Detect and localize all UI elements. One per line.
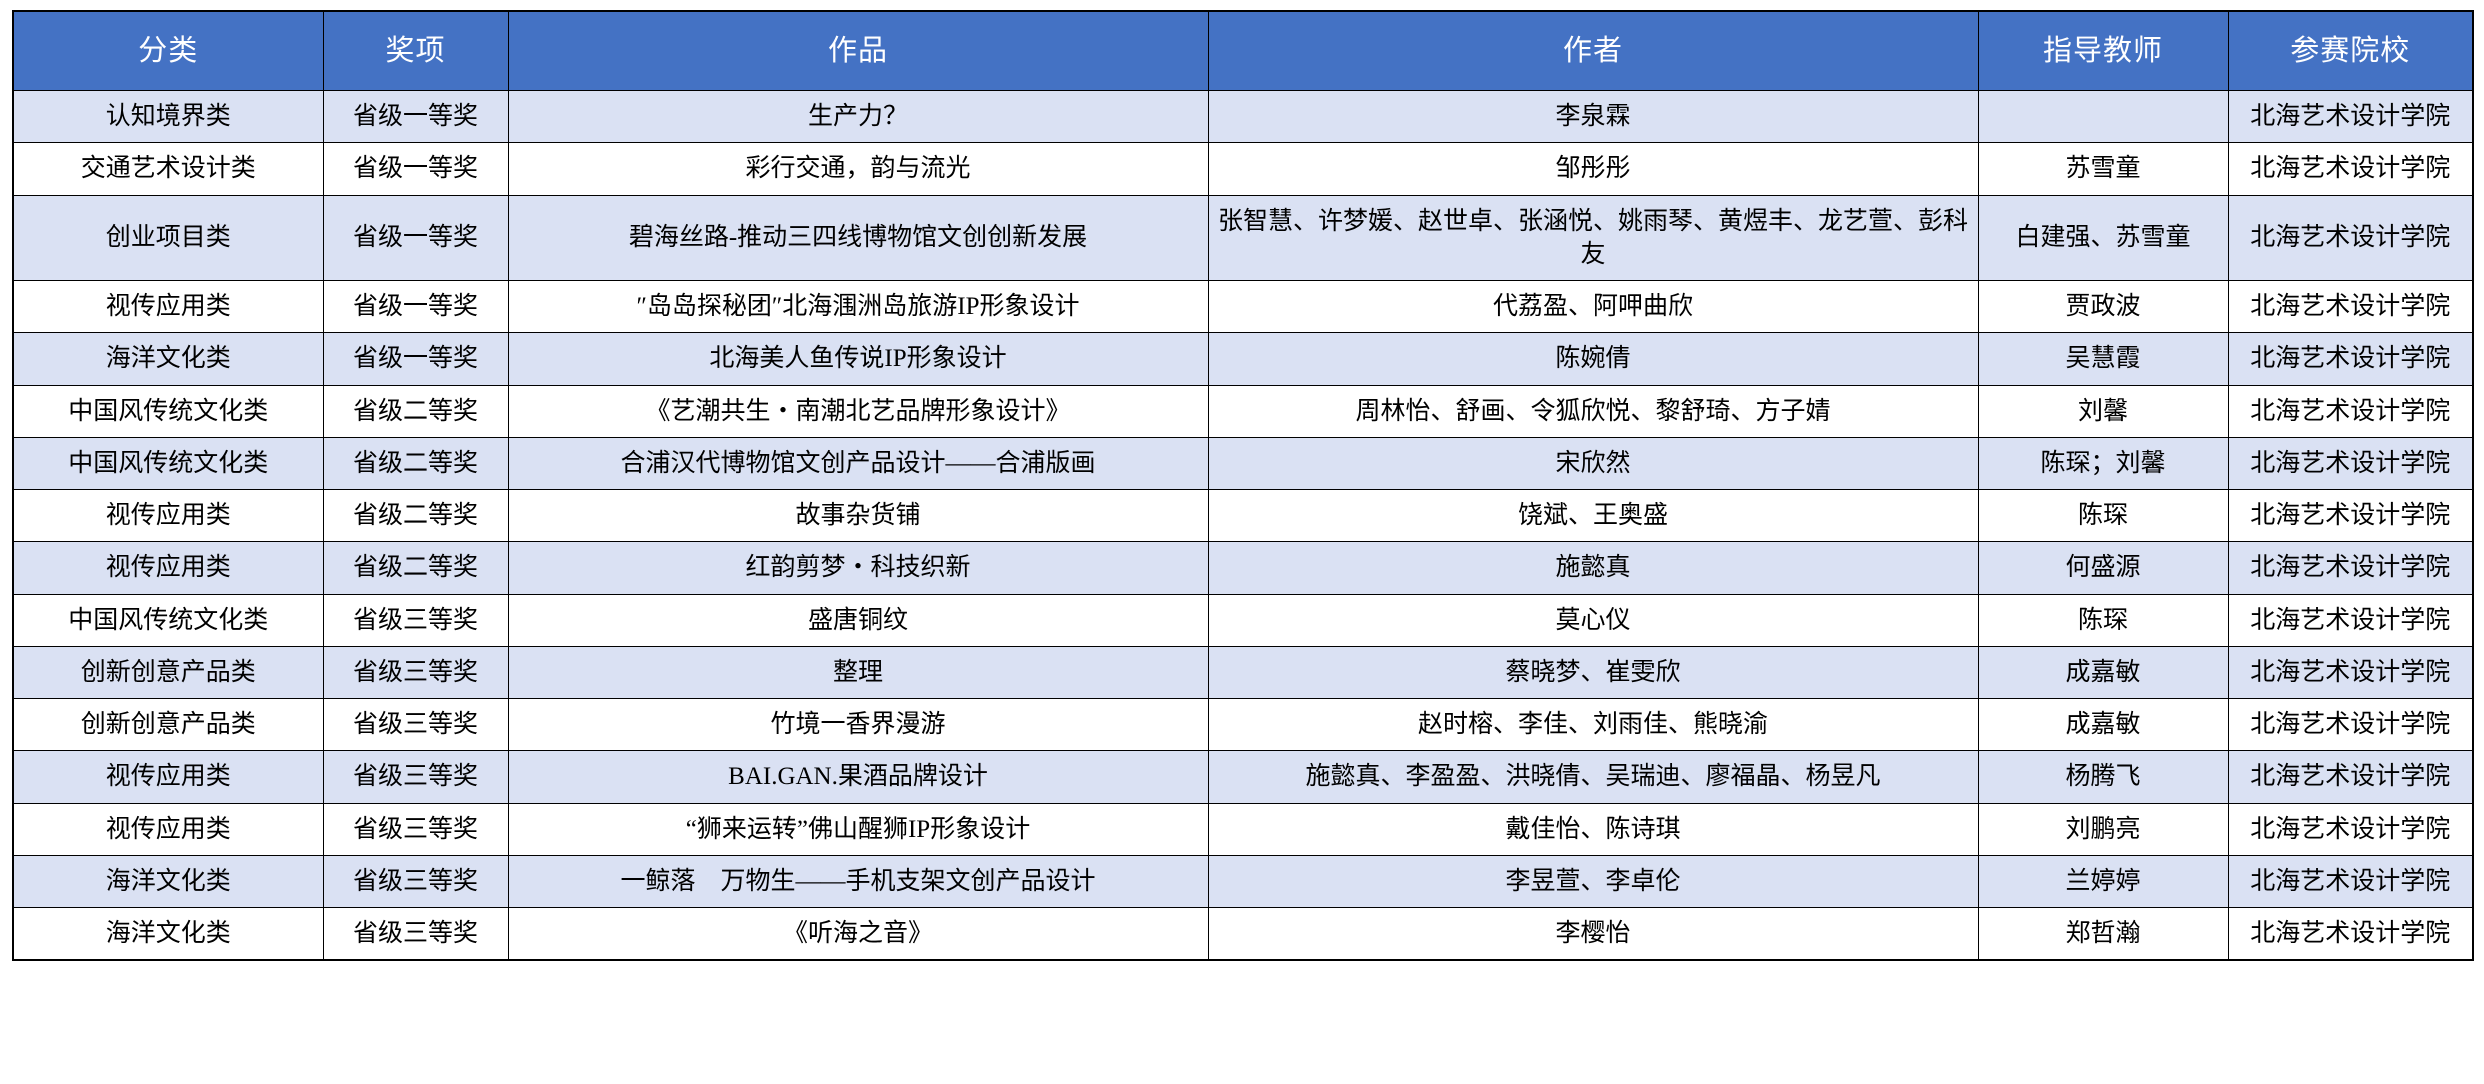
column-header-teacher: 指导教师 (1978, 11, 2228, 91)
cell-author: 施懿真 (1208, 542, 1978, 594)
cell-author-text: 张智慧、许梦媛、赵世卓、张涵悦、姚雨琴、黄煜丰、龙艺萱、彭科友 (1217, 205, 1970, 272)
cell-teacher-text: 陈琛 (1987, 499, 2220, 532)
cell-work: “狮来运转”佛山醒狮IP形象设计 (508, 803, 1208, 855)
cell-category-text: 视传应用类 (22, 760, 315, 793)
cell-category: 中国风传统文化类 (13, 594, 323, 646)
table-row: 海洋文化类省级三等奖一鲸落 万物生——手机支架文创产品设计李昱萱、李卓伦兰婷婷北… (13, 855, 2473, 907)
cell-award-text: 省级二等奖 (332, 395, 500, 428)
cell-school: 北海艺术设计学院 (2228, 699, 2473, 751)
cell-award: 省级二等奖 (323, 490, 508, 542)
cell-work-text: 《艺潮共生・南潮北艺品牌形象设计》 (517, 395, 1200, 428)
cell-teacher-text: 刘鹏亮 (1987, 813, 2220, 846)
table-row: 认知境界类省级一等奖生产力？李泉霖北海艺术设计学院 (13, 91, 2473, 143)
cell-school-text: 北海艺术设计学院 (2237, 656, 2465, 689)
cell-author-text: 周林怡、舒画、令狐欣悦、黎舒琦、方子婧 (1217, 395, 1970, 428)
cell-author-text: 蔡晓梦、崔雯欣 (1217, 656, 1970, 689)
cell-work-text: 合浦汉代博物馆文创产品设计——合浦版画 (517, 447, 1200, 480)
cell-author: 戴佳怡、陈诗琪 (1208, 803, 1978, 855)
cell-work-text: 红韵剪梦・科技织新 (517, 551, 1200, 584)
cell-award: 省级三等奖 (323, 646, 508, 698)
cell-author: 赵时榕、李佳、刘雨佳、熊晓渝 (1208, 699, 1978, 751)
cell-award-text: 省级一等奖 (332, 342, 500, 375)
table-row: 创新创意产品类省级三等奖竹境一香界漫游赵时榕、李佳、刘雨佳、熊晓渝成嘉敏北海艺术… (13, 699, 2473, 751)
table-body: 认知境界类省级一等奖生产力？李泉霖北海艺术设计学院交通艺术设计类省级一等奖彩行交… (13, 91, 2473, 961)
cell-school-text: 北海艺术设计学院 (2237, 447, 2465, 480)
cell-teacher: 吴慧霞 (1978, 333, 2228, 385)
cell-author: 饶斌、王奥盛 (1208, 490, 1978, 542)
table-row: 中国风传统文化类省级二等奖合浦汉代博物馆文创产品设计——合浦版画宋欣然陈琛；刘馨… (13, 437, 2473, 489)
cell-author: 陈婉倩 (1208, 333, 1978, 385)
cell-work: 红韵剪梦・科技织新 (508, 542, 1208, 594)
cell-school-text: 北海艺术设计学院 (2237, 760, 2465, 793)
cell-teacher-text: 陈琛；刘馨 (1987, 447, 2220, 480)
cell-school: 北海艺术设计学院 (2228, 333, 2473, 385)
cell-school: 北海艺术设计学院 (2228, 91, 2473, 143)
cell-work: 故事杂货铺 (508, 490, 1208, 542)
table-header: 分类 奖项 作品 作者 指导教师 参赛院校 (13, 11, 2473, 91)
cell-award-text: 省级三等奖 (332, 760, 500, 793)
cell-category-text: 中国风传统文化类 (22, 395, 315, 428)
cell-category: 中国风传统文化类 (13, 437, 323, 489)
cell-teacher: 刘鹏亮 (1978, 803, 2228, 855)
cell-teacher: 陈琛；刘馨 (1978, 437, 2228, 489)
cell-award: 省级三等奖 (323, 855, 508, 907)
cell-award-text: 省级一等奖 (332, 152, 500, 185)
cell-award: 省级三等奖 (323, 908, 508, 961)
cell-work: 竹境一香界漫游 (508, 699, 1208, 751)
cell-award-text: 省级二等奖 (332, 447, 500, 480)
cell-award-text: 省级三等奖 (332, 604, 500, 637)
cell-school: 北海艺术设计学院 (2228, 646, 2473, 698)
cell-author-text: 陈婉倩 (1217, 342, 1970, 375)
cell-teacher: 刘馨 (1978, 385, 2228, 437)
cell-work-text: “狮来运转”佛山醒狮IP形象设计 (517, 813, 1200, 846)
cell-category-text: 视传应用类 (22, 290, 315, 323)
cell-teacher: 贾政波 (1978, 281, 2228, 333)
cell-teacher-text: 成嘉敏 (1987, 656, 2220, 689)
cell-category-text: 视传应用类 (22, 551, 315, 584)
cell-award-text: 省级一等奖 (332, 221, 500, 254)
cell-category-text: 创新创意产品类 (22, 656, 315, 689)
cell-author: 代荔盈、阿呷曲欣 (1208, 281, 1978, 333)
cell-school: 北海艺术设计学院 (2228, 143, 2473, 195)
cell-award: 省级三等奖 (323, 751, 508, 803)
cell-teacher-text: 陈琛 (1987, 604, 2220, 637)
table-row: 视传应用类省级一等奖″岛岛探秘团″北海涠洲岛旅游IP形象设计代荔盈、阿呷曲欣贾政… (13, 281, 2473, 333)
cell-work: ″岛岛探秘团″北海涠洲岛旅游IP形象设计 (508, 281, 1208, 333)
table-row: 交通艺术设计类省级一等奖彩行交通，韵与流光邹彤彤苏雪童北海艺术设计学院 (13, 143, 2473, 195)
cell-author: 施懿真、李盈盈、洪晓倩、吴瑞迪、廖福晶、杨昱凡 (1208, 751, 1978, 803)
cell-teacher: 郑哲瀚 (1978, 908, 2228, 961)
cell-award-text: 省级二等奖 (332, 499, 500, 532)
cell-school: 北海艺术设计学院 (2228, 385, 2473, 437)
cell-category: 海洋文化类 (13, 333, 323, 385)
cell-author: 张智慧、许梦媛、赵世卓、张涵悦、姚雨琴、黄煜丰、龙艺萱、彭科友 (1208, 195, 1978, 281)
cell-school: 北海艺术设计学院 (2228, 542, 2473, 594)
cell-school-text: 北海艺术设计学院 (2237, 290, 2465, 323)
cell-author-text: 戴佳怡、陈诗琪 (1217, 813, 1970, 846)
cell-award-text: 省级三等奖 (332, 865, 500, 898)
cell-author: 邹彤彤 (1208, 143, 1978, 195)
cell-teacher: 兰婷婷 (1978, 855, 2228, 907)
cell-work: 北海美人鱼传说IP形象设计 (508, 333, 1208, 385)
cell-school: 北海艺术设计学院 (2228, 908, 2473, 961)
cell-award: 省级二等奖 (323, 385, 508, 437)
cell-work-text: 生产力？ (517, 100, 1200, 133)
cell-school: 北海艺术设计学院 (2228, 751, 2473, 803)
cell-school-text: 北海艺术设计学院 (2237, 813, 2465, 846)
cell-award: 省级二等奖 (323, 437, 508, 489)
cell-school-text: 北海艺术设计学院 (2237, 395, 2465, 428)
cell-author-text: 宋欣然 (1217, 447, 1970, 480)
cell-teacher-text: 兰婷婷 (1987, 865, 2220, 898)
cell-work: 《听海之音》 (508, 908, 1208, 961)
cell-award: 省级一等奖 (323, 143, 508, 195)
cell-work: 彩行交通，韵与流光 (508, 143, 1208, 195)
cell-school: 北海艺术设计学院 (2228, 490, 2473, 542)
cell-author-text: 莫心仪 (1217, 604, 1970, 637)
table-row: 创新创意产品类省级三等奖整理蔡晓梦、崔雯欣成嘉敏北海艺术设计学院 (13, 646, 2473, 698)
table-row: 视传应用类省级二等奖红韵剪梦・科技织新施懿真何盛源北海艺术设计学院 (13, 542, 2473, 594)
cell-teacher-text: 郑哲瀚 (1987, 917, 2220, 950)
cell-work: 合浦汉代博物馆文创产品设计——合浦版画 (508, 437, 1208, 489)
cell-author: 李泉霖 (1208, 91, 1978, 143)
cell-author: 宋欣然 (1208, 437, 1978, 489)
cell-award: 省级一等奖 (323, 333, 508, 385)
cell-school-text: 北海艺术设计学院 (2237, 865, 2465, 898)
column-header-award: 奖项 (323, 11, 508, 91)
cell-category: 视传应用类 (13, 490, 323, 542)
cell-work-text: 《听海之音》 (517, 917, 1200, 950)
cell-author-text: 饶斌、王奥盛 (1217, 499, 1970, 532)
cell-teacher: 成嘉敏 (1978, 646, 2228, 698)
cell-award-text: 省级三等奖 (332, 708, 500, 741)
cell-teacher-text: 刘馨 (1987, 395, 2220, 428)
cell-award: 省级三等奖 (323, 803, 508, 855)
table-header-row: 分类 奖项 作品 作者 指导教师 参赛院校 (13, 11, 2473, 91)
cell-author-text: 赵时榕、李佳、刘雨佳、熊晓渝 (1217, 708, 1970, 741)
cell-author-text: 施懿真 (1217, 551, 1970, 584)
table-row: 创业项目类省级一等奖碧海丝路-推动三四线博物馆文创创新发展张智慧、许梦媛、赵世卓… (13, 195, 2473, 281)
cell-category-text: 视传应用类 (22, 813, 315, 846)
cell-teacher: 白建强、苏雪童 (1978, 195, 2228, 281)
cell-category-text: 视传应用类 (22, 499, 315, 532)
cell-work-text: 竹境一香界漫游 (517, 708, 1200, 741)
table-row: 视传应用类省级三等奖BAI.GAN.果酒品牌设计施懿真、李盈盈、洪晓倩、吴瑞迪、… (13, 751, 2473, 803)
cell-teacher-text: 杨腾飞 (1987, 760, 2220, 793)
cell-teacher: 陈琛 (1978, 594, 2228, 646)
cell-category: 创新创意产品类 (13, 699, 323, 751)
cell-school-text: 北海艺术设计学院 (2237, 221, 2465, 254)
cell-category-text: 创新创意产品类 (22, 708, 315, 741)
cell-category: 创新创意产品类 (13, 646, 323, 698)
cell-author: 周林怡、舒画、令狐欣悦、黎舒琦、方子婧 (1208, 385, 1978, 437)
cell-author-text: 李樱怡 (1217, 917, 1970, 950)
cell-school: 北海艺术设计学院 (2228, 594, 2473, 646)
cell-category: 海洋文化类 (13, 908, 323, 961)
cell-teacher-text: 苏雪童 (1987, 152, 2220, 185)
cell-category: 视传应用类 (13, 281, 323, 333)
table-row: 中国风传统文化类省级二等奖《艺潮共生・南潮北艺品牌形象设计》周林怡、舒画、令狐欣… (13, 385, 2473, 437)
cell-teacher-text: 何盛源 (1987, 551, 2220, 584)
cell-category: 认知境界类 (13, 91, 323, 143)
award-results-table: 分类 奖项 作品 作者 指导教师 参赛院校 认知境界类省级一等奖生产力？李泉霖北… (12, 10, 2474, 961)
cell-author: 李昱萱、李卓伦 (1208, 855, 1978, 907)
cell-work-text: BAI.GAN.果酒品牌设计 (517, 760, 1200, 793)
cell-school-text: 北海艺术设计学院 (2237, 342, 2465, 375)
award-table-container: 分类 奖项 作品 作者 指导教师 参赛院校 认知境界类省级一等奖生产力？李泉霖北… (0, 0, 2484, 961)
cell-award: 省级三等奖 (323, 594, 508, 646)
table-row: 中国风传统文化类省级三等奖盛唐铜纹莫心仪陈琛北海艺术设计学院 (13, 594, 2473, 646)
column-header-author: 作者 (1208, 11, 1978, 91)
cell-teacher-text: 白建强、苏雪童 (1987, 221, 2220, 254)
table-row: 视传应用类省级三等奖“狮来运转”佛山醒狮IP形象设计戴佳怡、陈诗琪刘鹏亮北海艺术… (13, 803, 2473, 855)
cell-work: 生产力？ (508, 91, 1208, 143)
cell-work: 整理 (508, 646, 1208, 698)
cell-author-text: 李泉霖 (1217, 100, 1970, 133)
cell-author: 莫心仪 (1208, 594, 1978, 646)
cell-category-text: 中国风传统文化类 (22, 604, 315, 637)
cell-category-text: 交通艺术设计类 (22, 152, 315, 185)
table-row: 海洋文化类省级三等奖《听海之音》李樱怡郑哲瀚北海艺术设计学院 (13, 908, 2473, 961)
cell-school: 北海艺术设计学院 (2228, 855, 2473, 907)
cell-work-text: 整理 (517, 656, 1200, 689)
cell-category-text: 中国风传统文化类 (22, 447, 315, 480)
cell-award: 省级一等奖 (323, 281, 508, 333)
cell-teacher: 杨腾飞 (1978, 751, 2228, 803)
cell-school-text: 北海艺术设计学院 (2237, 499, 2465, 532)
cell-category: 中国风传统文化类 (13, 385, 323, 437)
cell-school: 北海艺术设计学院 (2228, 437, 2473, 489)
cell-work-text: 盛唐铜纹 (517, 604, 1200, 637)
cell-category: 创业项目类 (13, 195, 323, 281)
cell-school: 北海艺术设计学院 (2228, 195, 2473, 281)
cell-school-text: 北海艺术设计学院 (2237, 917, 2465, 950)
cell-award-text: 省级三等奖 (332, 917, 500, 950)
cell-category: 视传应用类 (13, 803, 323, 855)
cell-award-text: 省级二等奖 (332, 551, 500, 584)
cell-work: 《艺潮共生・南潮北艺品牌形象设计》 (508, 385, 1208, 437)
cell-school: 北海艺术设计学院 (2228, 803, 2473, 855)
cell-teacher-text: 吴慧霞 (1987, 342, 2220, 375)
cell-category-text: 海洋文化类 (22, 917, 315, 950)
cell-category: 视传应用类 (13, 542, 323, 594)
cell-work: 一鲸落 万物生——手机支架文创产品设计 (508, 855, 1208, 907)
cell-school-text: 北海艺术设计学院 (2237, 604, 2465, 637)
cell-work-text: 北海美人鱼传说IP形象设计 (517, 342, 1200, 375)
cell-award-text: 省级三等奖 (332, 656, 500, 689)
cell-category: 视传应用类 (13, 751, 323, 803)
cell-work: 盛唐铜纹 (508, 594, 1208, 646)
column-header-category: 分类 (13, 11, 323, 91)
cell-award-text: 省级三等奖 (332, 813, 500, 846)
cell-work-text: 一鲸落 万物生——手机支架文创产品设计 (517, 865, 1200, 898)
table-row: 视传应用类省级二等奖故事杂货铺饶斌、王奥盛陈琛北海艺术设计学院 (13, 490, 2473, 542)
cell-award: 省级一等奖 (323, 195, 508, 281)
cell-teacher: 苏雪童 (1978, 143, 2228, 195)
cell-category-text: 海洋文化类 (22, 865, 315, 898)
cell-award: 省级二等奖 (323, 542, 508, 594)
cell-category: 交通艺术设计类 (13, 143, 323, 195)
cell-work-text: 彩行交通，韵与流光 (517, 152, 1200, 185)
cell-work: 碧海丝路-推动三四线博物馆文创创新发展 (508, 195, 1208, 281)
cell-teacher (1978, 91, 2228, 143)
cell-teacher: 何盛源 (1978, 542, 2228, 594)
cell-school-text: 北海艺术设计学院 (2237, 100, 2465, 133)
cell-author-text: 李昱萱、李卓伦 (1217, 865, 1970, 898)
cell-teacher-text: 贾政波 (1987, 290, 2220, 323)
cell-work-text: ″岛岛探秘团″北海涠洲岛旅游IP形象设计 (517, 290, 1200, 323)
cell-school-text: 北海艺术设计学院 (2237, 551, 2465, 584)
cell-author: 李樱怡 (1208, 908, 1978, 961)
cell-school-text: 北海艺术设计学院 (2237, 708, 2465, 741)
cell-teacher-text: 成嘉敏 (1987, 708, 2220, 741)
cell-work-text: 碧海丝路-推动三四线博物馆文创创新发展 (517, 221, 1200, 254)
cell-teacher: 陈琛 (1978, 490, 2228, 542)
cell-author-text: 代荔盈、阿呷曲欣 (1217, 290, 1970, 323)
cell-school-text: 北海艺术设计学院 (2237, 152, 2465, 185)
cell-author-text: 施懿真、李盈盈、洪晓倩、吴瑞迪、廖福晶、杨昱凡 (1217, 760, 1970, 793)
table-row: 海洋文化类省级一等奖北海美人鱼传说IP形象设计陈婉倩吴慧霞北海艺术设计学院 (13, 333, 2473, 385)
cell-award: 省级三等奖 (323, 699, 508, 751)
cell-author-text: 邹彤彤 (1217, 152, 1970, 185)
cell-author: 蔡晓梦、崔雯欣 (1208, 646, 1978, 698)
cell-teacher: 成嘉敏 (1978, 699, 2228, 751)
cell-award-text: 省级一等奖 (332, 100, 500, 133)
cell-category-text: 认知境界类 (22, 100, 315, 133)
cell-work: BAI.GAN.果酒品牌设计 (508, 751, 1208, 803)
column-header-work: 作品 (508, 11, 1208, 91)
cell-school: 北海艺术设计学院 (2228, 281, 2473, 333)
cell-award-text: 省级一等奖 (332, 290, 500, 323)
cell-category-text: 海洋文化类 (22, 342, 315, 375)
cell-category: 海洋文化类 (13, 855, 323, 907)
cell-category-text: 创业项目类 (22, 221, 315, 254)
cell-work-text: 故事杂货铺 (517, 499, 1200, 532)
column-header-school: 参赛院校 (2228, 11, 2473, 91)
cell-award: 省级一等奖 (323, 91, 508, 143)
